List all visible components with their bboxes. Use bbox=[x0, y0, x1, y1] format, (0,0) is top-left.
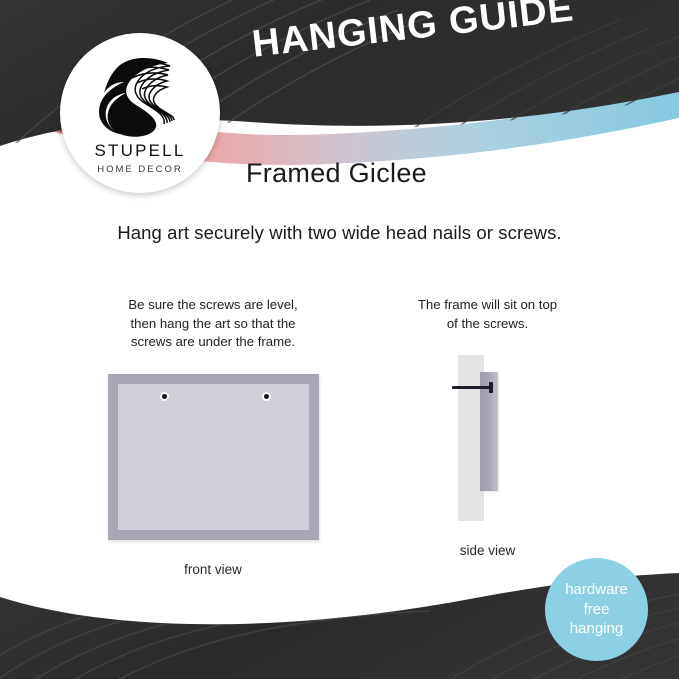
frame-mat-area bbox=[118, 384, 309, 530]
front-caption-line-3: screws are under the frame. bbox=[88, 333, 338, 352]
hardware-free-hanging-badge: hardware free hanging bbox=[545, 558, 648, 661]
front-view-caption: Be sure the screws are level, then hang … bbox=[88, 296, 338, 352]
side-view-caption: The frame will sit on top of the screws. bbox=[395, 296, 580, 333]
framed-art-front-diagram bbox=[108, 374, 319, 540]
badge-line-2: free bbox=[584, 600, 610, 620]
hanging-guide-infographic: STUPELL HOME DECOR HANGING GUIDE Framed … bbox=[0, 0, 679, 679]
stupell-swirl-logo bbox=[90, 53, 190, 139]
front-view-panel: Be sure the screws are level, then hang … bbox=[88, 296, 338, 577]
badge-line-3: hanging bbox=[570, 619, 623, 639]
side-caption-line-2: of the screws. bbox=[395, 315, 580, 334]
logo-subtitle: HOME DECOR bbox=[97, 164, 182, 175]
framed-art-side-diagram bbox=[442, 355, 534, 521]
product-name: Framed Giclee bbox=[246, 158, 427, 189]
front-caption-line-1: Be sure the screws are level, bbox=[88, 296, 338, 315]
screw-dot-right-icon bbox=[262, 392, 271, 401]
badge-line-1: hardware bbox=[565, 580, 628, 600]
stupell-logo-badge: STUPELL HOME DECOR bbox=[60, 33, 220, 193]
logo-wordmark: STUPELL bbox=[95, 141, 186, 161]
side-caption-line-1: The frame will sit on top bbox=[395, 296, 580, 315]
screw-head-icon bbox=[489, 382, 493, 393]
front-caption-line-2: then hang the art so that the bbox=[88, 315, 338, 334]
side-view-panel: The frame will sit on top of the screws.… bbox=[395, 296, 580, 558]
lead-instruction: Hang art securely with two wide head nai… bbox=[0, 222, 679, 244]
screw-dot-left-icon bbox=[160, 392, 169, 401]
